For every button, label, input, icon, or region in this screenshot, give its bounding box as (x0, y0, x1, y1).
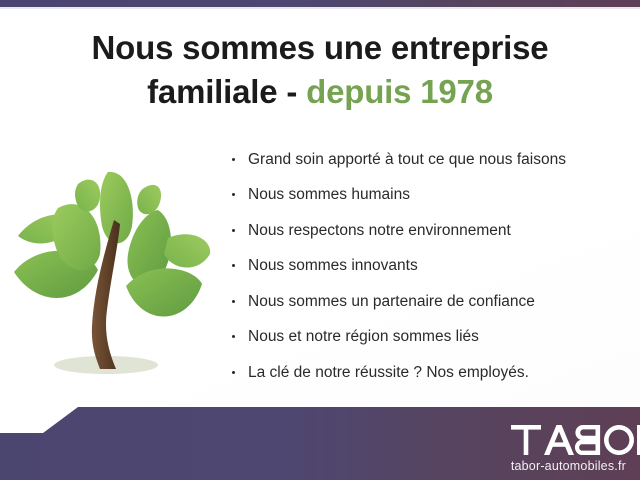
bullet-dot-icon (232, 229, 235, 232)
list-item: Nous sommes un partenaire de confiance (230, 292, 630, 313)
bullet-dot-icon (232, 300, 235, 303)
bullet-dot-icon (232, 371, 235, 374)
list-item-label: Nous sommes un partenaire de confiance (248, 293, 535, 310)
tree-illustration (8, 150, 218, 390)
heading-line-2-prefix: familiale - (147, 73, 297, 110)
list-item: La clé de notre réussite ? Nos employés. (230, 363, 630, 384)
list-item-label: Grand soin apporté à tout ce que nous fa… (248, 151, 566, 168)
heading-line-2: familiale - depuis 1978 (0, 70, 640, 114)
list-item-label: Nous sommes humains (248, 186, 410, 203)
list-item-label: La clé de notre réussite ? Nos employés. (248, 364, 529, 381)
heading-accent-year: depuis 1978 (306, 73, 493, 110)
tabor-wordmark (511, 425, 626, 455)
brand-logo[interactable]: tabor-automobiles.fr (511, 425, 626, 473)
list-item: Nous sommes humains (230, 185, 630, 206)
bullet-dot-icon (232, 193, 235, 196)
brand-url[interactable]: tabor-automobiles.fr (511, 460, 626, 473)
heading-line-1: Nous sommes une entreprise (92, 29, 549, 66)
list-item-label: Nous sommes innovants (248, 257, 418, 274)
bullet-dot-icon (232, 335, 235, 338)
bullet-dot-icon (232, 264, 235, 267)
list-item: Nous et notre région sommes liés (230, 327, 630, 348)
top-accent-band (0, 0, 640, 7)
benefits-list: Grand soin apporté à tout ce que nous fa… (230, 150, 630, 398)
list-item: Nous sommes innovants (230, 256, 630, 277)
list-item-label: Nous respectons notre environnement (248, 222, 511, 239)
slide-canvas: Nous sommes une entreprise familiale - d… (0, 0, 640, 480)
top-accent-hairline (0, 7, 640, 9)
bullet-dot-icon (232, 158, 235, 161)
footer-band: tabor-automobiles.fr (0, 400, 640, 480)
list-item-label: Nous et notre région sommes liés (248, 328, 479, 345)
list-item: Nous respectons notre environnement (230, 221, 630, 242)
page-title: Nous sommes une entreprise familiale - d… (0, 26, 640, 113)
list-item: Grand soin apporté à tout ce que nous fa… (230, 150, 630, 171)
